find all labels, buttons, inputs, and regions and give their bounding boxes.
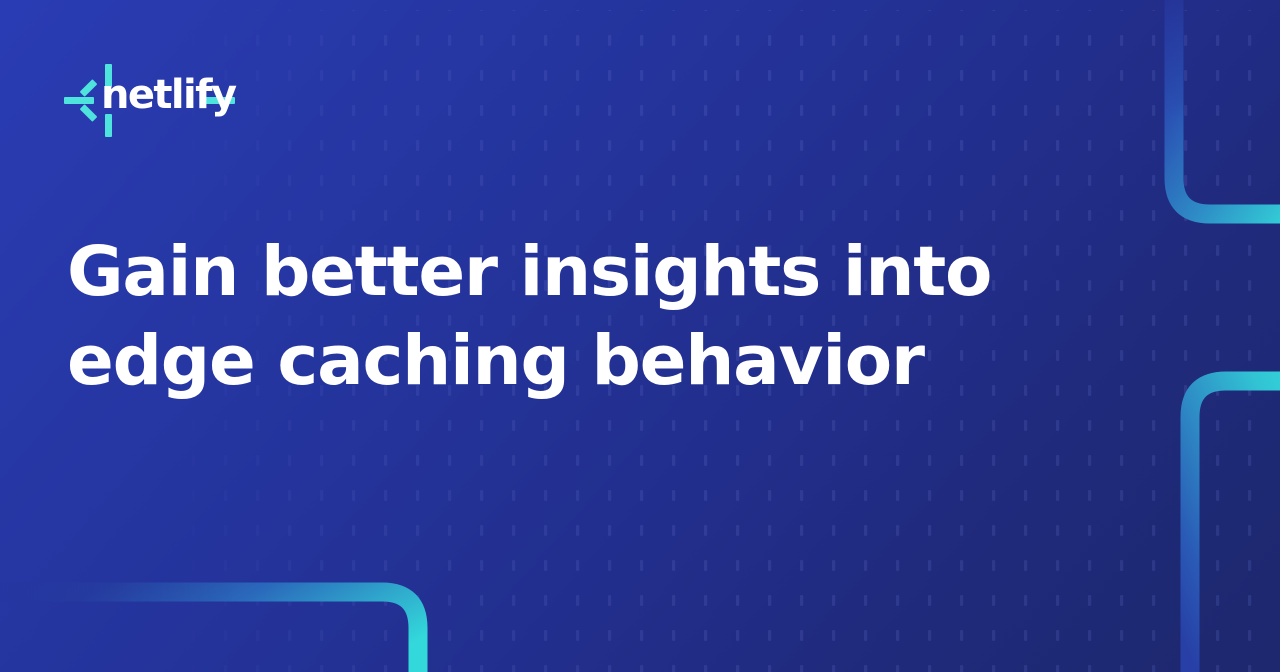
netlify-wordmark: netlify: [101, 75, 235, 115]
page-title: Gain better insights into edge caching b…: [67, 228, 927, 406]
netlify-logo[interactable]: netlify: [64, 64, 244, 144]
headline-line-2: edge caching behavior: [67, 317, 927, 406]
bracket-top-right: [1174, 0, 1280, 214]
logo-ray-diagonal-down: [80, 104, 98, 122]
logo-ray-diagonal-up: [80, 79, 98, 97]
logo-ray-left-dash: [64, 97, 94, 104]
headline-line-1: Gain better insights into: [67, 228, 927, 317]
bracket-bottom-left: [0, 592, 418, 672]
bracket-right-middle: [1190, 381, 1280, 672]
og-card: netlify Gain better insights into edge c…: [0, 0, 1280, 672]
